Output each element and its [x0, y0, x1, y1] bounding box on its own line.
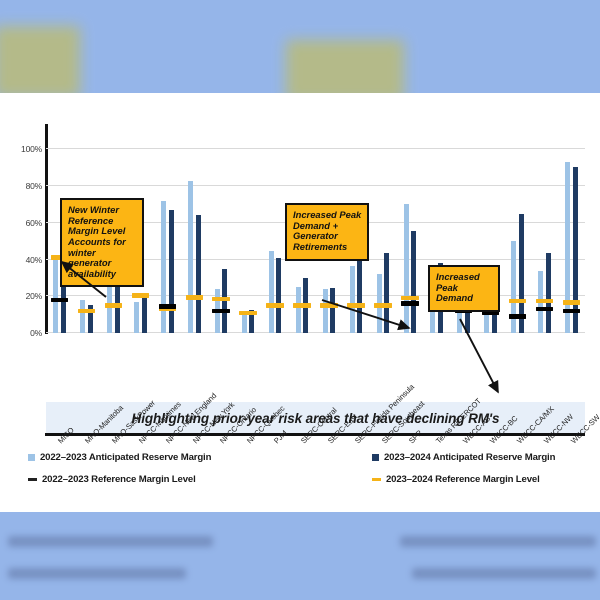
chart-legend: 2022–2023 Anticipated Reserve Margin2023…	[0, 448, 600, 512]
blurred-slide-top	[0, 0, 600, 93]
bar-2023-2024-anticipated-reserve-margin[interactable]	[196, 215, 201, 333]
marker-2022-2023-reference-margin-level[interactable]	[159, 304, 176, 309]
y-axis-tick-labels: 0%20%40%60%80%100%	[0, 93, 42, 353]
bar-group[interactable]	[558, 131, 585, 333]
bar-2022-2023-anticipated-reserve-margin[interactable]	[565, 162, 570, 333]
marker-2023-2024-reference-margin-level[interactable]	[509, 299, 526, 304]
bar-2022-2023-anticipated-reserve-margin[interactable]	[188, 181, 193, 333]
annotation-callout-peak-demand-retirements: Increased Peak Demand + Generator Retire…	[285, 203, 369, 261]
y-axis-tick-label: 20%	[26, 291, 42, 301]
legend-line-icon	[372, 478, 381, 480]
y-axis-tick-label: 0%	[30, 328, 42, 338]
marker-2023-2024-reference-margin-level[interactable]	[78, 309, 95, 314]
bar-group[interactable]	[396, 131, 423, 333]
marker-2023-2024-reference-margin-level[interactable]	[293, 303, 310, 308]
marker-2023-2024-reference-margin-level[interactable]	[563, 300, 580, 305]
bar-2023-2024-anticipated-reserve-margin[interactable]	[276, 258, 281, 333]
blurred-legend-line-1	[8, 536, 213, 547]
marker-2023-2024-reference-margin-level[interactable]	[347, 303, 364, 308]
legend-item[interactable]: 2022–2023 Anticipated Reserve Margin	[28, 452, 211, 463]
bar-2022-2023-anticipated-reserve-margin[interactable]	[269, 251, 274, 333]
annotation-callout-new-winter-rml: New Winter Reference Margin Level Accoun…	[60, 198, 144, 287]
bar-2023-2024-anticipated-reserve-margin[interactable]	[330, 288, 335, 333]
bar-2023-2024-anticipated-reserve-margin[interactable]	[169, 210, 174, 333]
bar-group[interactable]	[181, 131, 208, 333]
marker-2023-2024-reference-margin-level[interactable]	[374, 303, 391, 308]
bar-2022-2023-anticipated-reserve-margin[interactable]	[511, 241, 516, 333]
blurred-callout-ghost-left	[0, 26, 80, 98]
bar-2023-2024-anticipated-reserve-margin[interactable]	[357, 256, 362, 333]
legend-item-label: 2022–2023 Reference Margin Level	[42, 474, 196, 485]
legend-item-label: 2022–2023 Anticipated Reserve Margin	[40, 452, 211, 463]
marker-2023-2024-reference-margin-level[interactable]	[401, 296, 418, 301]
annotation-callout-1-text: New Winter Reference Margin Level Accoun…	[68, 205, 137, 279]
legend-item-label: 2023–2024 Anticipated Reserve Margin	[384, 452, 555, 463]
bar-2022-2023-anticipated-reserve-margin[interactable]	[53, 256, 58, 333]
bar-group[interactable]	[208, 131, 235, 333]
marker-2022-2023-reference-margin-level[interactable]	[212, 309, 229, 314]
y-axis-tick-label: 80%	[26, 181, 42, 191]
bar-2023-2024-anticipated-reserve-margin[interactable]	[142, 298, 147, 333]
chart-card: 0%20%40%60%80%100% Highlighting prior-ye…	[0, 93, 600, 512]
marker-2022-2023-reference-margin-level[interactable]	[401, 301, 418, 306]
bar-group[interactable]	[154, 131, 181, 333]
blurred-slide-bottom	[0, 512, 600, 600]
bar-2023-2024-anticipated-reserve-margin[interactable]	[115, 287, 120, 333]
marker-2023-2024-reference-margin-level[interactable]	[239, 311, 256, 316]
bar-group[interactable]	[235, 131, 262, 333]
bar-2022-2023-anticipated-reserve-margin[interactable]	[350, 266, 355, 333]
bar-2022-2023-anticipated-reserve-margin[interactable]	[404, 204, 409, 333]
marker-2023-2024-reference-margin-level[interactable]	[320, 303, 337, 308]
annotation-callout-peak-demand: Increased Peak Demand	[428, 265, 500, 312]
blurred-legend-line-2	[8, 568, 186, 579]
legend-item[interactable]: 2023–2024 Anticipated Reserve Margin	[372, 452, 555, 463]
bar-2023-2024-anticipated-reserve-margin[interactable]	[546, 253, 551, 333]
legend-item[interactable]: 2022–2023 Reference Margin Level	[28, 474, 196, 485]
marker-2022-2023-reference-margin-level[interactable]	[51, 298, 68, 303]
marker-2023-2024-reference-margin-level[interactable]	[536, 299, 553, 304]
marker-2022-2023-reference-margin-level[interactable]	[536, 307, 553, 312]
y-axis-tick-label: 100%	[21, 144, 42, 154]
marker-2022-2023-reference-margin-level[interactable]	[509, 314, 526, 319]
bar-2022-2023-anticipated-reserve-margin[interactable]	[296, 287, 301, 333]
legend-square-icon	[28, 454, 35, 461]
bar-group[interactable]	[531, 131, 558, 333]
marker-2023-2024-reference-margin-level[interactable]	[105, 303, 122, 308]
bar-2022-2023-anticipated-reserve-margin[interactable]	[161, 201, 166, 333]
y-axis-tick-label: 40%	[26, 255, 42, 265]
bar-2022-2023-anticipated-reserve-margin[interactable]	[80, 300, 85, 333]
marker-2022-2023-reference-margin-level[interactable]	[563, 309, 580, 314]
bar-2022-2023-anticipated-reserve-margin[interactable]	[134, 302, 139, 333]
legend-item[interactable]: 2023–2024 Reference Margin Level	[372, 474, 540, 485]
legend-line-icon	[28, 478, 37, 480]
annotation-callout-2-text: Increased Peak Demand + Generator Retire…	[293, 210, 362, 253]
marker-2023-2024-reference-margin-level[interactable]	[266, 303, 283, 308]
bar-2023-2024-anticipated-reserve-margin[interactable]	[411, 231, 416, 333]
y-axis-tick-label: 60%	[26, 218, 42, 228]
bar-2022-2023-anticipated-reserve-margin[interactable]	[323, 289, 328, 333]
bar-2023-2024-anticipated-reserve-margin[interactable]	[384, 253, 389, 333]
marker-2023-2024-reference-margin-level[interactable]	[186, 295, 203, 300]
blurred-legend-line-4	[412, 568, 596, 579]
blurred-legend-line-3	[400, 536, 596, 547]
annotation-callout-3-text: Increased Peak Demand	[436, 272, 493, 304]
marker-2023-2024-reference-margin-level[interactable]	[212, 297, 229, 302]
legend-square-icon	[372, 454, 379, 461]
legend-item-label: 2023–2024 Reference Margin Level	[386, 474, 540, 485]
bar-group[interactable]	[369, 131, 396, 333]
marker-2023-2024-reference-margin-level[interactable]	[132, 293, 149, 298]
bar-group[interactable]	[504, 131, 531, 333]
